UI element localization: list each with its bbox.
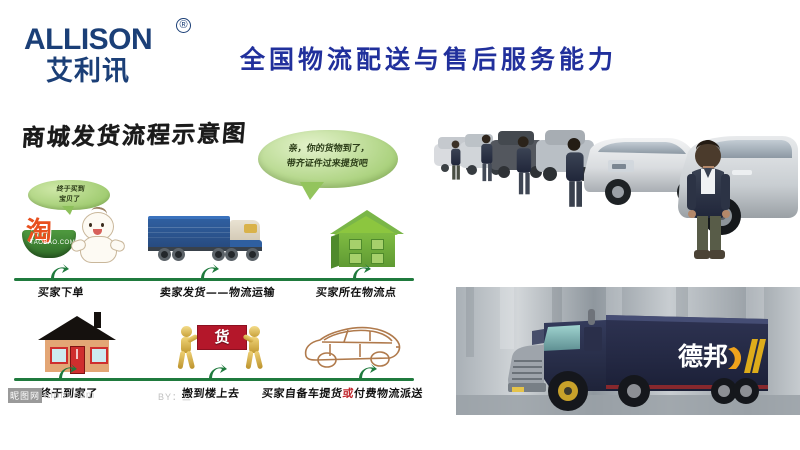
- brand-logo: ALLISON ® 艾利讯: [24, 24, 204, 86]
- shipping-flow-diagram: 商城发货流程示意图 终于买到 宝贝了 淘 TAOBAO.COM: [0, 104, 430, 420]
- slide-canvas: ALLISON ® 艾利讯 全国物流配送与售后服务能力 商城发货流程示意图 终于…: [0, 0, 800, 450]
- flow-arrow-icon: [206, 362, 228, 382]
- watermark-author: BY：三: [158, 390, 192, 403]
- logistics-speech-bubble: 亲，你的货物到了， 带齐证件过来提货吧: [258, 130, 398, 188]
- buyer-bubble-line1: 终于买到: [35, 184, 106, 194]
- semi-truck-icon: [148, 214, 274, 266]
- logistics-truck-photo: 德邦: [456, 287, 800, 415]
- page-title: 全国物流配送与售后服务能力: [240, 40, 760, 76]
- flow-arrow-icon: [198, 262, 220, 282]
- logistics-station-house-icon: [330, 210, 404, 270]
- taobao-basket-icon: 淘 TAOBAO.COM: [22, 212, 78, 260]
- logistics-bubble-line1: 亲，你的货物到了，: [268, 142, 390, 157]
- registered-trademark-icon: ®: [176, 18, 191, 33]
- speech-tail-icon: [300, 182, 324, 200]
- watermark-domain: nipic.com: [44, 390, 95, 401]
- cargo-sign: 货: [197, 325, 247, 350]
- logistics-bubble-line2: 带齐证件过来提货吧: [266, 157, 388, 172]
- brand-chinese-text: 艾利讯: [46, 57, 204, 87]
- flow-step-label-3: 买家所在物流点: [315, 284, 397, 300]
- buyer-mascot-icon: [72, 210, 124, 266]
- buyer-bubble-line2: 宝贝了: [34, 194, 105, 204]
- watermark: 昵图网nipic.com BY：三: [8, 388, 338, 404]
- flow-arrow-icon: [356, 362, 378, 382]
- flow-arrow-icon: [56, 362, 78, 382]
- truck-brand-text: 德邦: [678, 342, 728, 371]
- flow-step-label-2: 卖家发货——物流运输: [159, 284, 275, 300]
- flow-step-label-6-post: 付费物流派送: [353, 387, 423, 400]
- flow-step-label-1: 买家下单: [37, 284, 84, 300]
- buyer-speech-bubble: 终于买到 宝贝了: [28, 180, 110, 210]
- watermark-site-badge: 昵图网: [8, 388, 42, 403]
- cargo-sign-text: 货: [198, 326, 246, 349]
- flow-arrow-icon: [350, 262, 372, 282]
- flow-arrow-icon: [48, 262, 70, 282]
- buyer-car-icon: [300, 320, 404, 372]
- diagram-title: 商城发货流程示意图: [20, 114, 248, 153]
- service-fleet-photo: [432, 112, 798, 264]
